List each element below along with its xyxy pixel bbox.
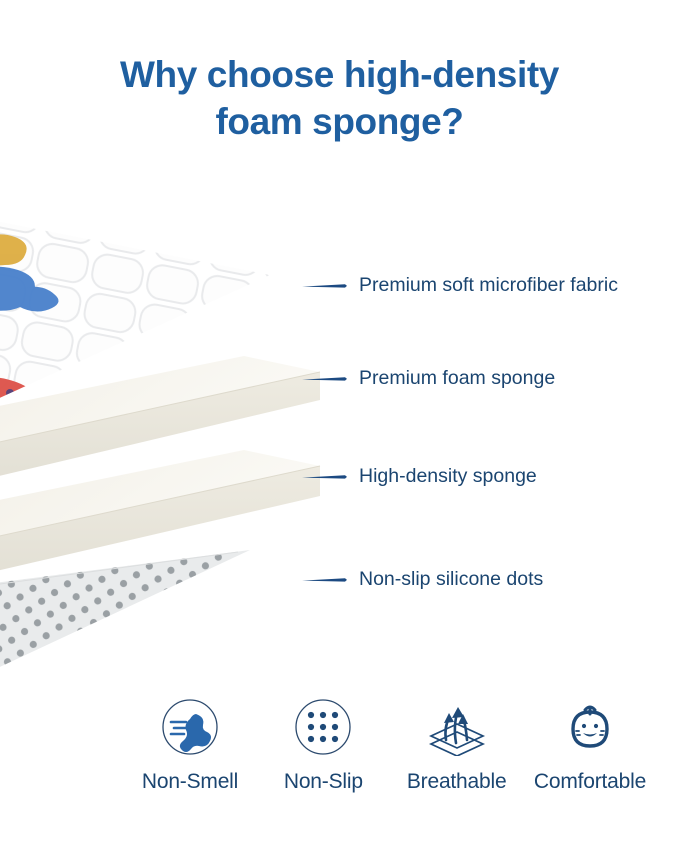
dot-grid-icon: [294, 695, 352, 759]
callout-microfiber-fabric: Premium soft microfiber fabric: [302, 274, 618, 298]
callout-non-slip-silicone-dots: Non-slip silicone dots: [302, 568, 543, 592]
callout-label: Premium foam sponge: [359, 369, 555, 389]
infographic-page: Why choose high-density foam sponge?: [0, 0, 679, 849]
feature-non-slip: Non-Slip: [258, 695, 388, 794]
callout-label: High-density sponge: [359, 467, 537, 487]
page-title-line-1: Why choose high-density: [0, 52, 679, 99]
baby-face-icon: [561, 695, 619, 759]
leader-line-icon: [302, 576, 347, 584]
feature-breathable: Breathable: [392, 695, 522, 794]
odor-waves-icon: [161, 695, 219, 759]
page-title-line-2: foam sponge?: [0, 99, 679, 146]
leader-line-icon: [302, 473, 347, 481]
callout-label: Premium soft microfiber fabric: [359, 276, 618, 296]
callout-label: Non-slip silicone dots: [359, 570, 543, 590]
callout-premium-foam-sponge: Premium foam sponge: [302, 367, 555, 391]
leader-line-icon: [302, 282, 347, 290]
product-exploded-view: [0, 150, 340, 695]
airflow-layers-icon: [426, 695, 488, 759]
leader-line-icon: [302, 375, 347, 383]
callout-high-density-sponge: High-density sponge: [302, 465, 537, 489]
feature-comfortable: Comfortable: [525, 695, 655, 794]
feature-label: Non-Slip: [284, 770, 363, 794]
feature-label: Breathable: [407, 770, 507, 794]
feature-non-smell: Non-Smell: [125, 695, 255, 794]
feature-label: Non-Smell: [142, 770, 238, 794]
feature-row: Non-Smell Non-Slip: [125, 695, 655, 794]
feature-label: Comfortable: [534, 770, 646, 794]
page-title: Why choose high-density foam sponge?: [0, 52, 679, 146]
